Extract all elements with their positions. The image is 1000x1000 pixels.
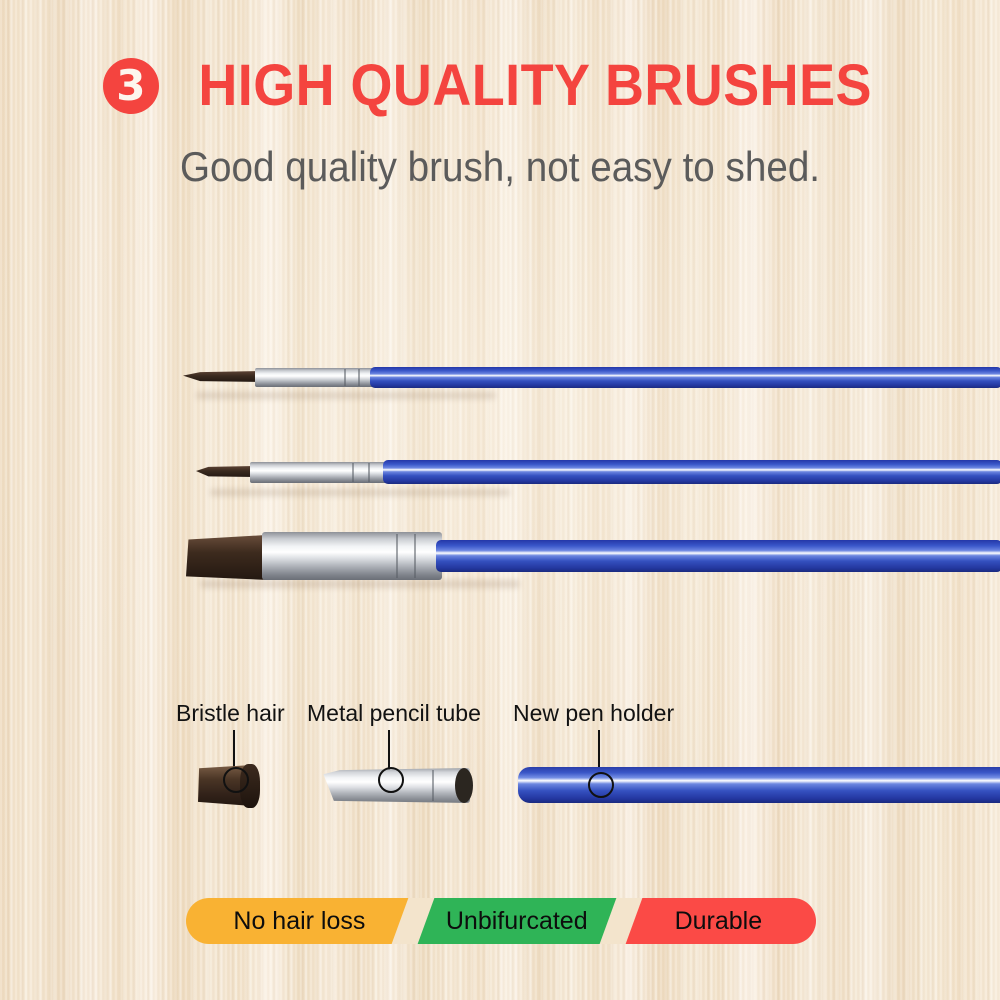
- brush-handle: [383, 460, 1000, 484]
- feature-pill-bar: No hair loss Unbifurcated Durable: [186, 898, 816, 944]
- brush-tip-bristles: [186, 534, 268, 580]
- ferrule-seam: [352, 463, 354, 482]
- count-badge: 3: [103, 58, 159, 114]
- brush-ferrule: [255, 368, 375, 387]
- title-row: 3 HIGH QUALITY BRUSHES: [0, 52, 1000, 119]
- callout-label: New pen holder: [513, 700, 674, 727]
- brush-handle: [370, 367, 1000, 388]
- header: 3 HIGH QUALITY BRUSHES Good quality brus…: [0, 52, 1000, 191]
- callout-marker-circle: [223, 767, 249, 793]
- feature-label: Durable: [675, 907, 763, 936]
- feature-no-hair-loss[interactable]: No hair loss: [186, 898, 413, 944]
- callout-marker-circle: [378, 767, 404, 793]
- callout-label: Metal pencil tube: [307, 700, 481, 727]
- ferrule-seam: [414, 534, 416, 578]
- ferrule-seam: [358, 369, 360, 386]
- feature-unbifurcated[interactable]: Unbifurcated: [413, 898, 621, 944]
- ferrule-seam: [344, 369, 346, 386]
- specimen-seam: [432, 770, 434, 801]
- brush-handle: [436, 540, 1000, 572]
- metal-tube-opening: [455, 768, 473, 803]
- page-subtitle: Good quality brush, not easy to shed.: [40, 143, 960, 191]
- feature-label: No hair loss: [233, 907, 365, 936]
- feature-durable[interactable]: Durable: [621, 898, 816, 944]
- ferrule-seam: [368, 463, 370, 482]
- feature-label: Unbifurcated: [446, 907, 588, 936]
- ferrule-seam: [396, 534, 398, 578]
- brush-shadow: [196, 392, 496, 399]
- product-infographic: 3 HIGH QUALITY BRUSHES Good quality brus…: [0, 0, 1000, 1000]
- page-title: HIGH QUALITY BRUSHES: [198, 52, 872, 119]
- callout-marker-circle: [588, 772, 614, 798]
- brush-shadow: [210, 489, 510, 496]
- brush-shadow: [200, 580, 520, 588]
- callout-label: Bristle hair: [176, 700, 285, 727]
